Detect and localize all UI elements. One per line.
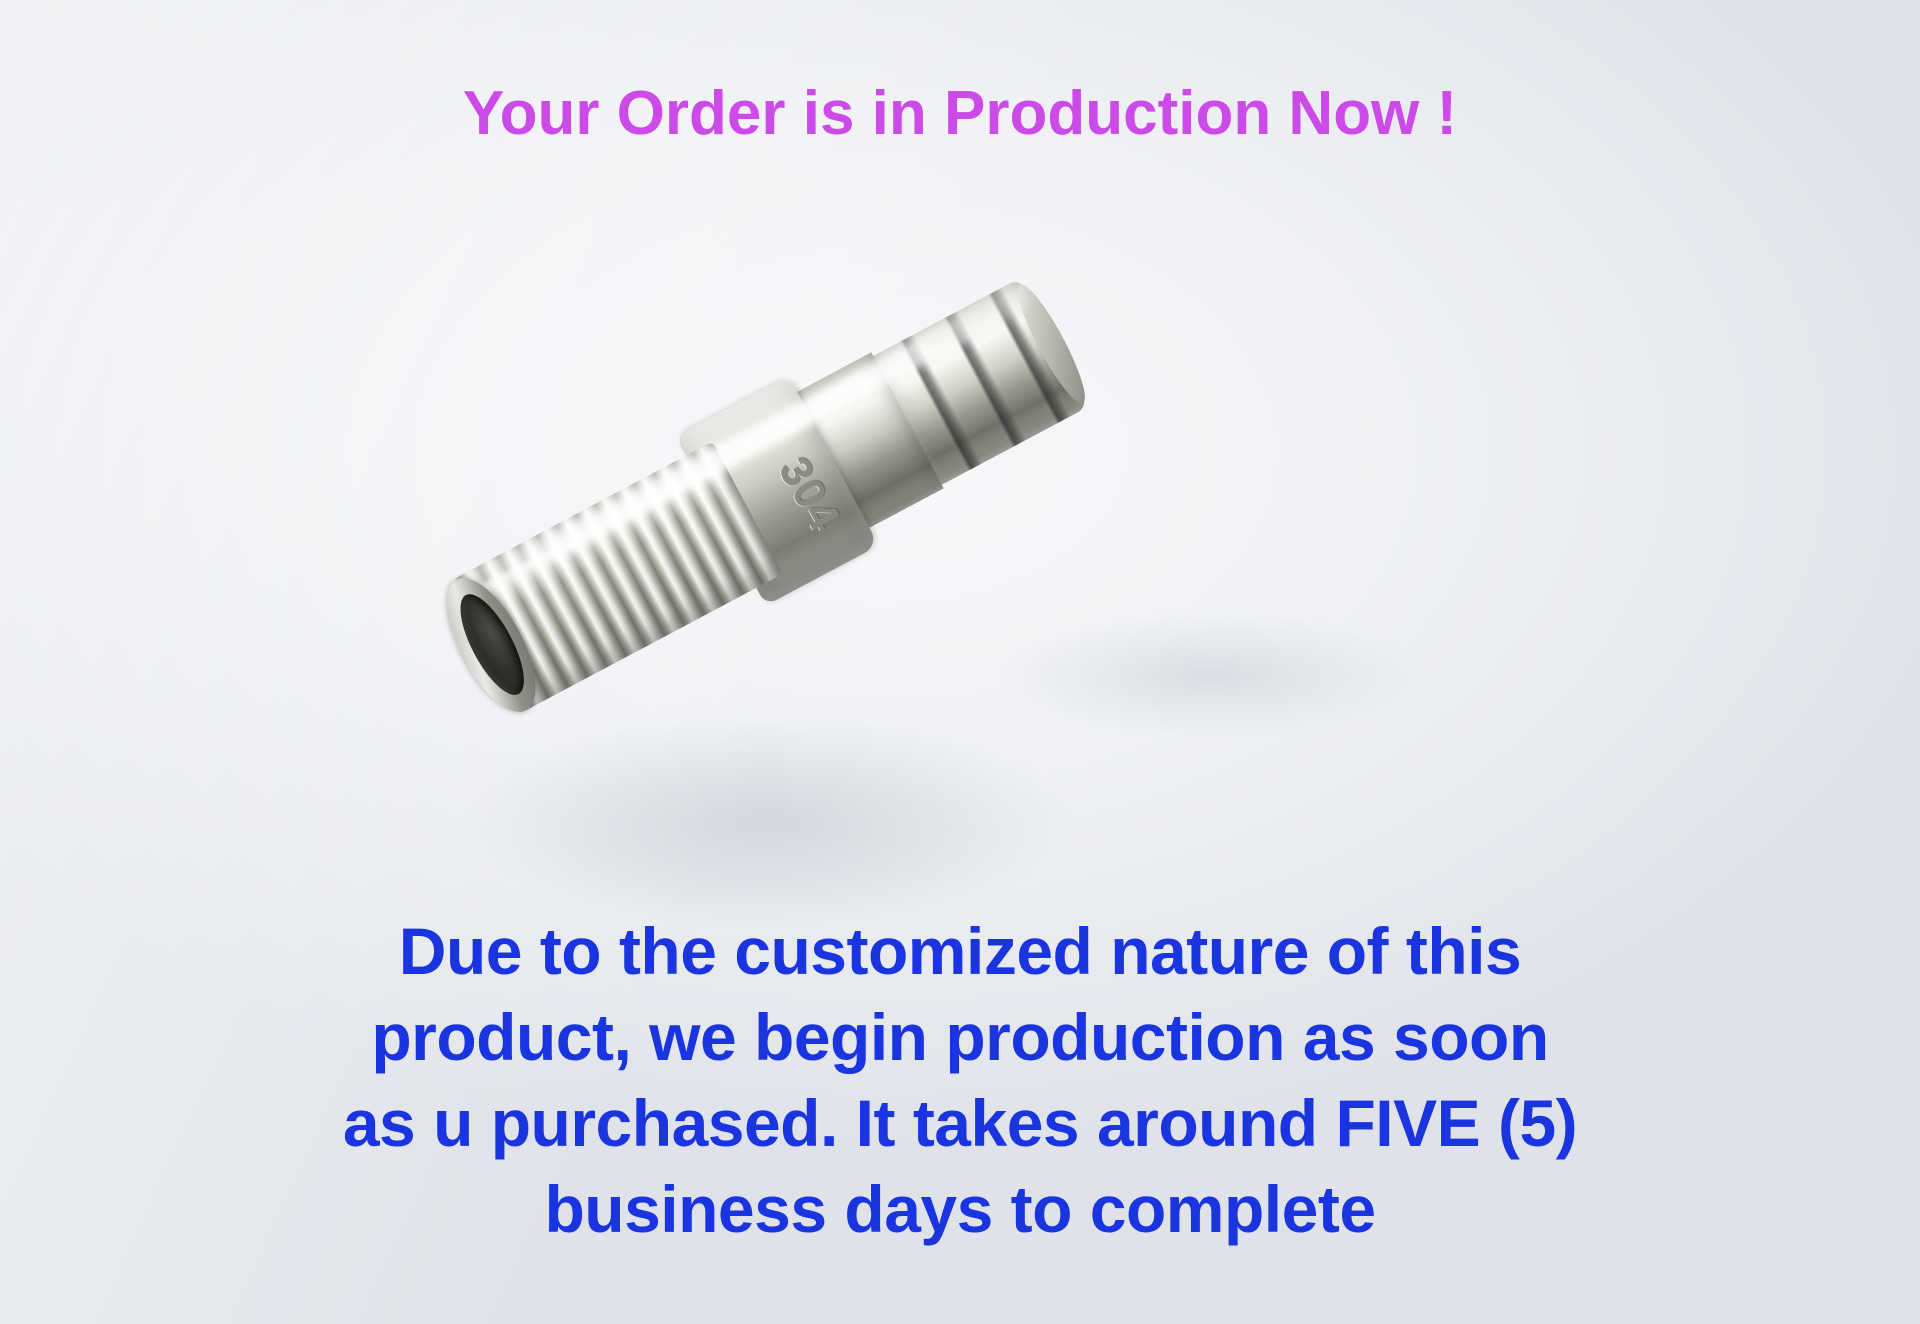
notice-line-2: product, we begin production as soon	[110, 994, 1810, 1080]
notice-line-1: Due to the customized nature of this	[110, 908, 1810, 994]
promo-banner: Your Order is in Production Now ! 304 Du…	[0, 0, 1920, 1324]
production-notice-text: Due to the customized nature of this pro…	[110, 908, 1810, 1252]
notice-line-4: business days to complete	[110, 1166, 1810, 1252]
notice-line-3: as u purchased. It takes around FIVE (5)	[110, 1080, 1810, 1166]
product-photo: 304	[455, 300, 1155, 720]
